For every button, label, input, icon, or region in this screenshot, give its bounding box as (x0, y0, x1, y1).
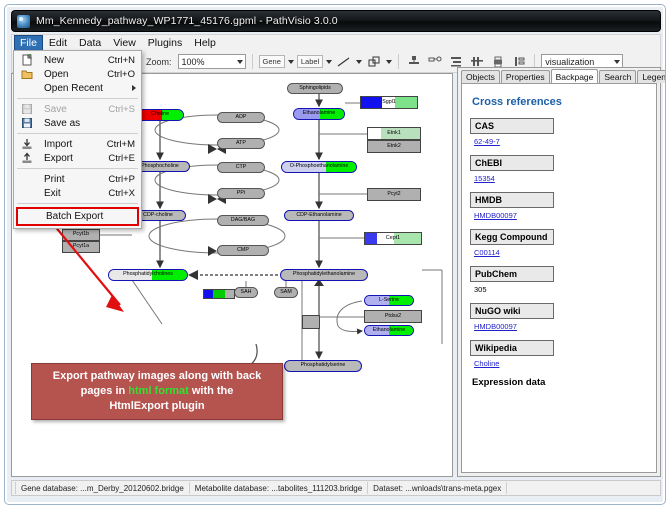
menu-item-exit-label: Exit (44, 188, 61, 199)
align-icon[interactable] (405, 53, 423, 71)
pathway-node-cmp[interactable]: CMP (217, 245, 269, 256)
menu-item-save-label: Save (44, 104, 67, 115)
toolbar-separator-2 (398, 54, 399, 69)
export-icon (21, 152, 33, 164)
file-dropdown-menu[interactable]: New Ctrl+N Open Ctrl+O Open Recent Save … (13, 50, 142, 229)
menu-item-import-label: Import (44, 139, 72, 150)
zoom-label: Zoom: (146, 57, 172, 67)
pathway-gene-pcyt2[interactable]: Pcyt2 (367, 188, 421, 201)
shape-chevron-icon[interactable] (386, 60, 392, 64)
status-dataset: Dataset: ...wnloads\trans-meta.pgex (368, 482, 507, 494)
group-icon[interactable] (426, 53, 444, 71)
node-label: Phosphatidylethanolamine (293, 272, 355, 277)
menu-plugins[interactable]: Plugins (142, 35, 188, 51)
shape-icon[interactable] (365, 53, 383, 71)
menu-item-print-label: Print (44, 174, 65, 185)
node-label: O-Phosphoethanolamine (290, 164, 349, 169)
backpage-content[interactable]: Cross references CAS62-49-7ChEBI15354HMD… (461, 83, 657, 473)
node-label: Ethanolamine (373, 328, 405, 333)
xref-name-pubchem: PubChem (470, 266, 554, 282)
xref-value-chebi[interactable]: 15354 (474, 174, 656, 183)
node-label: ADP (236, 115, 247, 120)
menu-item-new-accel: Ctrl+N (108, 55, 135, 66)
xref-value-nugo-wiki[interactable]: HMDB00097 (474, 322, 656, 331)
toolbar-separator (252, 54, 253, 69)
pathway-node-ethanolamine-top[interactable]: Ethanolamine (293, 108, 345, 120)
menu-help[interactable]: Help (188, 35, 222, 51)
node-fill (204, 290, 213, 298)
node-label: CDP-Ethanolamine (296, 213, 341, 218)
xref-value-pubchem: 305 (474, 285, 656, 294)
menu-data[interactable]: Data (73, 35, 107, 51)
node-label: Phosphatidylserine (301, 363, 346, 368)
pathway-gene-etnk1[interactable]: Etnk1 (367, 127, 421, 140)
callout-highlight: html format (128, 385, 189, 397)
status-gene-database: Gene database: ...m_Derby_20120602.bridg… (15, 482, 190, 494)
xref-value-kegg-compound[interactable]: C00114 (474, 248, 656, 257)
node-fill (361, 97, 382, 108)
line-icon[interactable] (335, 53, 353, 71)
pathway-node-adp[interactable]: ADP (217, 112, 265, 123)
node-label: CMP (237, 248, 249, 253)
pathway-gene-sgpl1[interactable]: Sgpl1 (360, 96, 418, 109)
node-label: Phosphocholine (141, 164, 179, 169)
pathvisio-window: Mm_Kennedy_pathway_WP1771_45176.gpml - P… (4, 4, 666, 505)
node-label: L-Serine (379, 298, 399, 303)
node-label: SAM (280, 290, 291, 295)
node-label: DAG/BAG (231, 218, 255, 223)
menu-separator-1 (17, 98, 138, 99)
pathway-node-ctp[interactable]: CTP (217, 162, 265, 173)
pathway-node-phosphatidylethanolamine[interactable]: Phosphatidylethanolamine (280, 269, 368, 281)
tab-search[interactable]: Search (599, 70, 636, 83)
menu-item-save: Save Ctrl+S (14, 102, 141, 116)
menu-item-new-label: New (44, 55, 64, 66)
node-label: SAH (241, 290, 252, 295)
menu-item-export[interactable]: Export Ctrl+E (14, 151, 141, 165)
menu-edit[interactable]: Edit (43, 35, 73, 51)
menu-item-print[interactable]: Print Ctrl+P (14, 172, 141, 186)
menu-item-open[interactable]: Open Ctrl+O (14, 67, 141, 81)
menu-separator-3 (17, 168, 138, 169)
pathway-node-choline-top[interactable]: Choline (136, 109, 184, 121)
menu-view[interactable]: View (107, 35, 142, 51)
tab-backpage[interactable]: Backpage (551, 69, 599, 83)
menu-file[interactable]: File (14, 35, 43, 51)
pathway-node-o-phosphoethanolamine[interactable]: O-Phosphoethanolamine (281, 161, 357, 173)
datanode-chevron-icon[interactable] (288, 60, 294, 64)
callout-line2-post: with the (189, 385, 234, 397)
xref-name-wikipedia: Wikipedia (470, 340, 554, 356)
menu-item-new[interactable]: New Ctrl+N (14, 53, 141, 67)
gene-label: Cept1 (386, 236, 400, 241)
callout-line1: Export pathway images along with back (53, 370, 261, 382)
pathway-node-cdp-ethanolamine[interactable]: CDP-Ethanolamine (284, 210, 354, 221)
pathway-node-phosphatidylcholines[interactable]: Phosphatidylcholines (108, 269, 188, 281)
pathway-node-dag-bag[interactable]: DAG/BAG (217, 215, 269, 226)
xref-name-cas: CAS (470, 118, 554, 134)
menu-separator-2 (17, 133, 138, 134)
xref-name-chebi: ChEBI (470, 155, 554, 171)
pathway-gene-pcyt1a[interactable]: Pcyt1a (62, 241, 100, 253)
menu-item-import-accel: Ctrl+M (107, 139, 135, 150)
node-label: Choline (151, 112, 169, 117)
node-label: PPi (237, 191, 245, 196)
pathway-node-sphingolipids[interactable]: Sphingolipids (287, 83, 343, 94)
pathway-gene-ptdss2[interactable]: Ptdss2 (364, 310, 422, 323)
cross-references-title: Cross references (472, 96, 656, 108)
gene-label: Etnk2 (387, 144, 401, 149)
datanode-button[interactable]: Gene (259, 55, 285, 68)
menu-item-open-accel: Ctrl+O (107, 69, 135, 80)
label-button[interactable]: Label (297, 55, 323, 68)
title-bar: Mm_Kennedy_pathway_WP1771_45176.gpml - P… (11, 10, 661, 32)
menu-item-open-label: Open (44, 69, 68, 80)
pathway-node-sah[interactable]: SAH (234, 287, 258, 298)
gene-label: Etnk1 (387, 131, 401, 136)
node-fill (225, 290, 234, 298)
menu-item-exit-accel: Ctrl+X (108, 188, 135, 199)
pathway-node-phosphatidylserine[interactable]: Phosphatidylserine (284, 360, 362, 372)
xref-name-kegg-compound: Kegg Compound (470, 229, 554, 245)
zoom-combo[interactable]: 100% (178, 54, 246, 69)
gene-label: Pcyt1a (73, 244, 89, 249)
xref-value-cas[interactable]: 62-49-7 (474, 137, 656, 146)
annotation-callout: Export pathway images along with back pa… (31, 363, 283, 420)
side-panel-tabs: Objects Properties Backpage Search Legen… (458, 68, 663, 83)
save-as-icon (21, 117, 33, 129)
menu-item-open-recent-label: Open Recent (44, 83, 103, 94)
gene-label: Ptdss2 (385, 314, 401, 319)
app-icon (17, 15, 30, 28)
xref-value-hmdb[interactable]: HMDB00097 (474, 211, 656, 220)
pathway-gene-ptdss1[interactable] (302, 315, 320, 329)
tab-objects[interactable]: Objects (461, 70, 500, 83)
save-disk-icon (21, 103, 33, 115)
node-label: CTP (236, 165, 247, 170)
chevron-down-icon (237, 60, 243, 64)
menu-item-exit[interactable]: Exit Ctrl+X (14, 186, 141, 200)
node-label: Phosphatidylcholines (123, 272, 173, 277)
xref-name-nugo-wiki: NuGO wiki (470, 303, 554, 319)
open-folder-icon (21, 68, 33, 80)
status-bar: Gene database: ...m_Derby_20120602.bridg… (11, 480, 661, 496)
tab-properties[interactable]: Properties (501, 70, 550, 83)
side-panel: Objects Properties Backpage Search Legen… (457, 67, 661, 477)
chevron-down-icon-2 (614, 60, 620, 64)
callout-line2-pre: pages in (81, 385, 129, 397)
menu-item-batch-export[interactable]: Batch Export (16, 207, 139, 226)
pathway-node-sam[interactable]: SAM (274, 287, 298, 298)
menu-separator-4 (17, 203, 138, 204)
menu-item-open-recent[interactable]: Open Recent (14, 81, 141, 95)
expression-data-title: Expression data (472, 377, 656, 388)
menu-item-export-accel: Ctrl+E (108, 153, 135, 164)
gene-label: Pcyt1b (73, 232, 89, 237)
tab-legend[interactable]: Legend (637, 70, 666, 83)
pathway-gene-cept1[interactable]: Cept1 (364, 232, 422, 245)
pathway-gene-pemt-hidden[interactable] (203, 289, 235, 299)
xref-name-hmdb: HMDB (470, 192, 554, 208)
pathway-gene-pcyt1b[interactable]: Pcyt1b (62, 229, 100, 241)
node-fill (365, 233, 377, 244)
window-title: Mm_Kennedy_pathway_WP1771_45176.gpml - P… (36, 15, 338, 27)
menu-item-batch-export-label: Batch Export (46, 211, 103, 222)
menu-bar: File Edit Data View Plugins Help (11, 34, 661, 51)
pathway-node-ethanolamine-bot[interactable]: Ethanolamine (364, 325, 414, 336)
gene-label: Pcyt2 (387, 192, 400, 197)
pathway-node-l-serine[interactable]: L-Serine (364, 295, 414, 306)
submenu-arrow-icon (132, 85, 136, 91)
menu-item-print-accel: Ctrl+P (108, 174, 135, 185)
pathway-gene-etnk2[interactable]: Etnk2 (367, 140, 421, 153)
node-label: ATP (236, 141, 246, 146)
status-metabolite-database: Metabolite database: ...tabolites_111203… (190, 482, 368, 494)
node-fill (395, 97, 417, 108)
pathway-node-ppi[interactable]: PPi (217, 188, 265, 199)
line-chevron-icon[interactable] (356, 60, 362, 64)
menu-item-save-as-label: Save as (44, 118, 80, 129)
menu-item-import[interactable]: Import Ctrl+M (14, 137, 141, 151)
node-label: Ethanolamine (303, 111, 335, 116)
menu-item-save-as[interactable]: Save as (14, 116, 141, 130)
cross-reference-list: CAS62-49-7ChEBI15354HMDBHMDB00097Kegg Co… (470, 118, 656, 368)
import-icon (21, 138, 33, 150)
menu-item-export-label: Export (44, 153, 73, 164)
label-chevron-icon[interactable] (326, 60, 332, 64)
node-fill (368, 128, 381, 139)
pathway-node-atp[interactable]: ATP (217, 138, 265, 149)
menu-item-save-accel: Ctrl+S (108, 104, 135, 115)
visualization-value: visualization (545, 57, 594, 67)
xref-value-wikipedia[interactable]: Choline (474, 359, 656, 368)
zoom-value: 100% (182, 57, 205, 67)
new-file-icon (21, 54, 33, 66)
node-label: Sphingolipids (299, 86, 331, 91)
node-fill (213, 290, 225, 298)
gene-label: Sgpl1 (382, 100, 396, 105)
callout-line3: HtmlExport plugin (109, 400, 204, 412)
node-label: CDP-choline (143, 213, 173, 218)
